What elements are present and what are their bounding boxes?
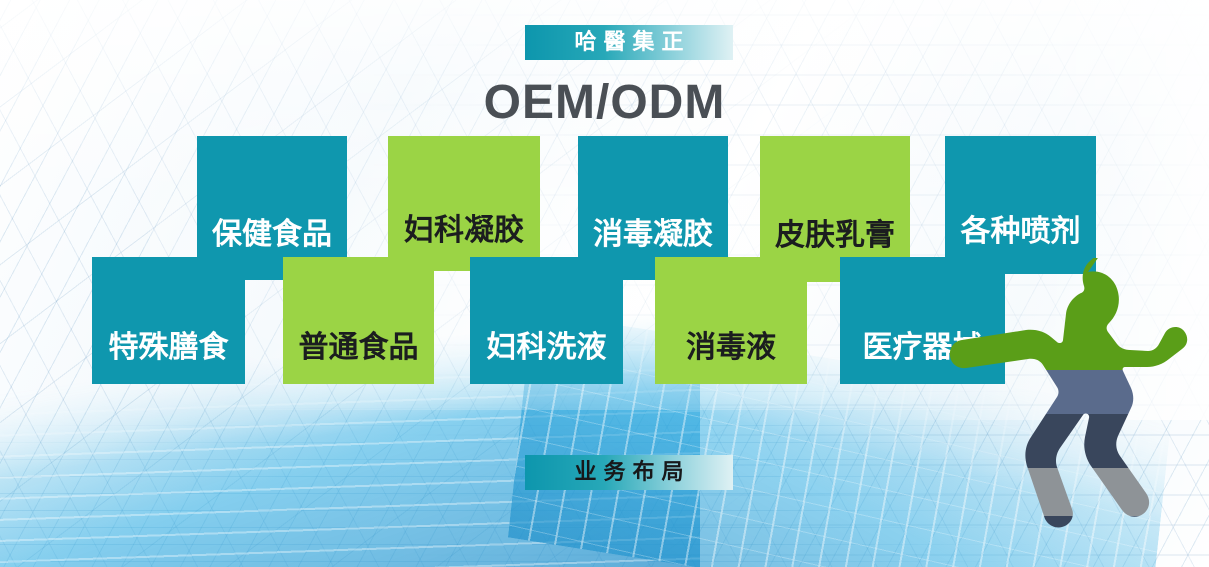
runner-band-shoes — [905, 516, 1205, 558]
category-label: 消毒液 — [686, 333, 776, 363]
section-ribbon: 业务布局 — [525, 455, 733, 490]
runner-band-green — [905, 258, 1205, 370]
category-box[interactable]: 各种喷剂 — [945, 136, 1096, 274]
category-label: 保健食品 — [212, 220, 332, 250]
brand-ribbon-label: 哈醫集正 — [567, 32, 690, 54]
page-title: OEM/ODM — [0, 75, 1209, 130]
category-label: 消毒凝胶 — [593, 220, 713, 250]
category-label: 特殊膳食 — [109, 333, 229, 363]
runner-band-gray — [905, 468, 1205, 516]
category-box[interactable]: 特殊膳食 — [92, 257, 245, 384]
category-box[interactable]: 消毒液 — [655, 257, 807, 384]
category-label: 妇科洗液 — [487, 333, 607, 363]
brand-ribbon: 哈醫集正 — [525, 25, 733, 60]
runner-band-slate — [905, 370, 1205, 414]
category-label: 皮肤乳膏 — [775, 221, 895, 251]
category-box[interactable]: 妇科洗液 — [470, 257, 623, 384]
running-athlete-icon — [905, 258, 1205, 558]
category-box[interactable]: 普通食品 — [283, 257, 434, 384]
category-label: 普通食品 — [299, 333, 419, 363]
category-label: 各种喷剂 — [961, 217, 1081, 247]
category-label: 妇科凝胶 — [404, 216, 524, 246]
runner-body — [905, 258, 1205, 558]
section-ribbon-label: 业务布局 — [567, 462, 690, 484]
runner-band-navy — [905, 414, 1205, 468]
category-box[interactable]: 妇科凝胶 — [388, 136, 540, 271]
poster-canvas: 哈醫集正 OEM/ODM 保健食品妇科凝胶消毒凝胶皮肤乳膏各种喷剂特殊膳食普通食… — [0, 0, 1209, 567]
